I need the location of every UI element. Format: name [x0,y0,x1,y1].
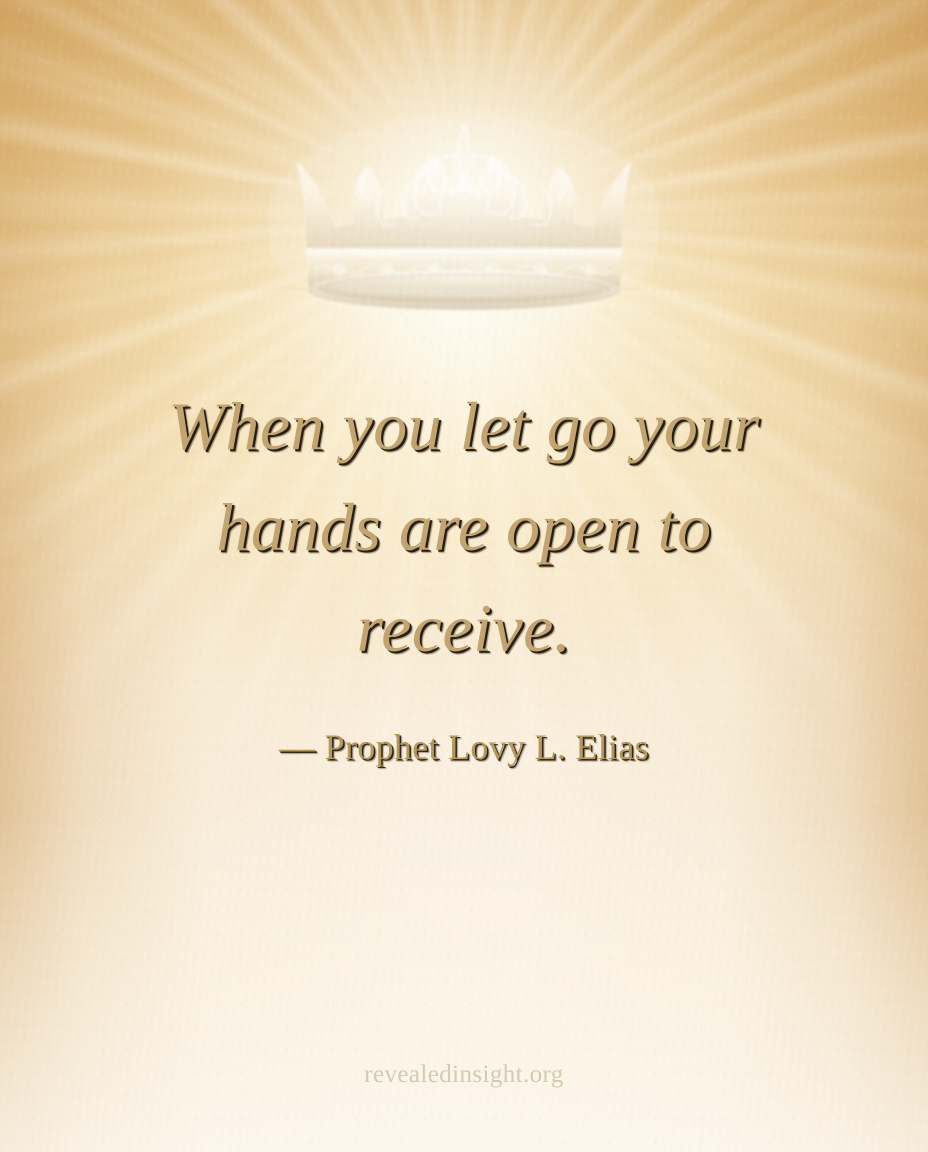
text-content: When you let go your hands are open to r… [0,0,928,1152]
watermark-url: revealedinsight.org [114,1058,814,1092]
attribution-text: — Prophet Lovy L. Elias [84,723,844,771]
quote-poster: When you let go your hands are open to r… [0,0,928,1152]
quote-line: When you let go your [84,376,844,477]
quote-line: receive. [84,578,844,679]
quote-text: When you let go your hands are open to r… [84,376,844,679]
quote-line: hands are open to [84,477,844,578]
